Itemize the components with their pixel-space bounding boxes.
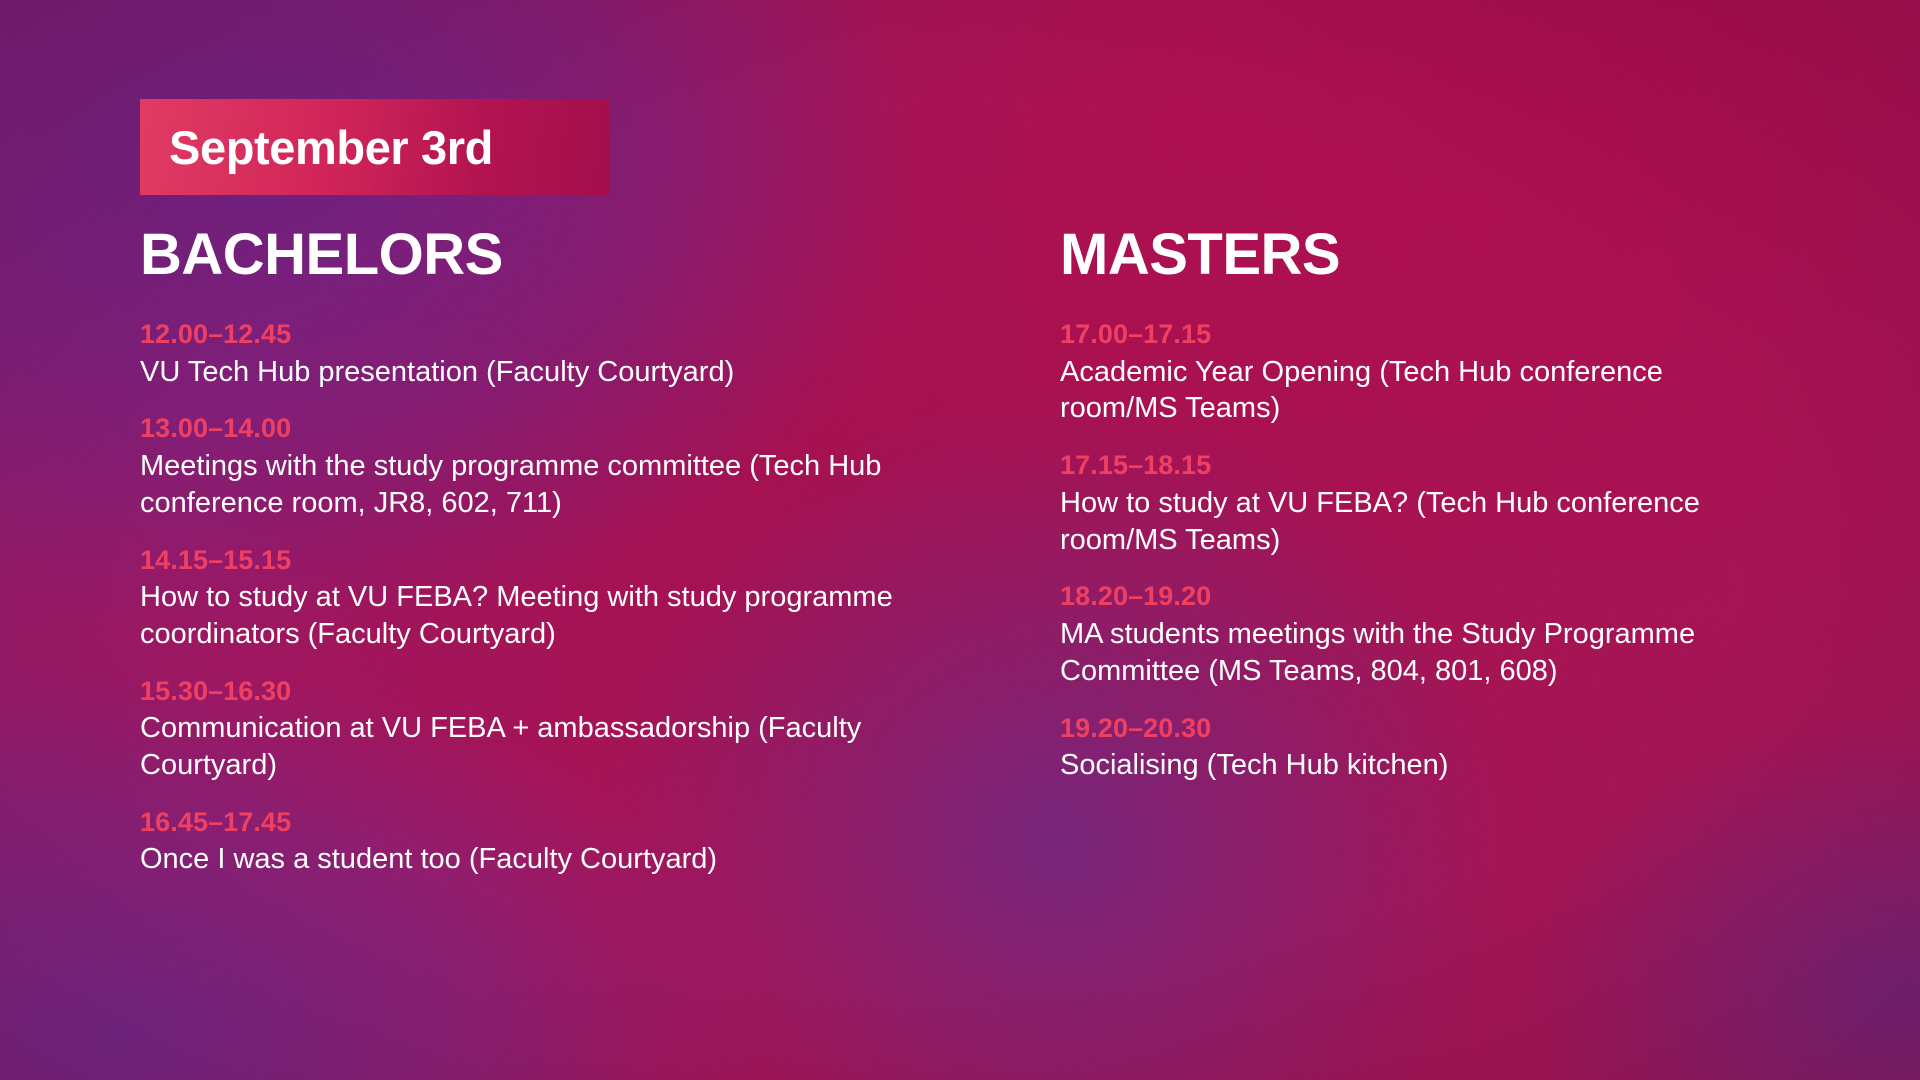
- column-heading-masters: MASTERS: [1060, 225, 1840, 284]
- schedule-entry: 19.20–20.30 Socialising (Tech Hub kitche…: [1060, 712, 1840, 784]
- entry-time: 19.20–20.30: [1060, 712, 1840, 745]
- schedule-entry: 16.45–17.45 Once I was a student too (Fa…: [140, 806, 940, 878]
- date-badge-label: September 3rd: [140, 124, 493, 171]
- entry-time: 16.45–17.45: [140, 806, 940, 839]
- schedule-entry: 18.20–19.20 MA students meetings with th…: [1060, 580, 1840, 689]
- column-bachelors: BACHELORS 12.00–12.45 VU Tech Hub presen…: [0, 225, 940, 878]
- schedule-columns: BACHELORS 12.00–12.45 VU Tech Hub presen…: [0, 225, 1920, 878]
- slide-content: September 3rd BACHELORS 12.00–12.45 VU T…: [0, 0, 1920, 1080]
- schedule-entry: 17.00–17.15 Academic Year Opening (Tech …: [1060, 318, 1840, 427]
- entry-description: Once I was a student too (Faculty Courty…: [140, 841, 940, 878]
- entry-description: How to study at VU FEBA? Meeting with st…: [140, 579, 940, 653]
- entry-time: 14.15–15.15: [140, 544, 940, 577]
- schedule-entry: 17.15–18.15 How to study at VU FEBA? (Te…: [1060, 449, 1840, 558]
- entry-description: Socialising (Tech Hub kitchen): [1060, 747, 1760, 784]
- entry-description: Meetings with the study programme commit…: [140, 448, 940, 522]
- entry-time: 12.00–12.45: [140, 318, 940, 351]
- entry-time: 17.15–18.15: [1060, 449, 1840, 482]
- entry-time: 15.30–16.30: [140, 675, 940, 708]
- entry-time: 18.20–19.20: [1060, 580, 1840, 613]
- column-masters: MASTERS 17.00–17.15 Academic Year Openin…: [940, 225, 1840, 878]
- schedule-entry: 12.00–12.45 VU Tech Hub presentation (Fa…: [140, 318, 940, 390]
- entry-description: How to study at VU FEBA? (Tech Hub confe…: [1060, 485, 1760, 559]
- entry-time: 17.00–17.15: [1060, 318, 1840, 351]
- date-badge: September 3rd: [140, 99, 610, 195]
- entry-description: Communication at VU FEBA + ambassadorshi…: [140, 710, 940, 784]
- column-heading-bachelors: BACHELORS: [140, 225, 940, 284]
- schedule-entry: 14.15–15.15 How to study at VU FEBA? Mee…: [140, 544, 940, 653]
- entry-description: MA students meetings with the Study Prog…: [1060, 616, 1760, 690]
- schedule-entry: 15.30–16.30 Communication at VU FEBA + a…: [140, 675, 940, 784]
- schedule-entry: 13.00–14.00 Meetings with the study prog…: [140, 412, 940, 521]
- entry-description: Academic Year Opening (Tech Hub conferen…: [1060, 354, 1760, 428]
- schedule-slide: September 3rd BACHELORS 12.00–12.45 VU T…: [0, 0, 1920, 1080]
- entry-time: 13.00–14.00: [140, 412, 940, 445]
- entry-description: VU Tech Hub presentation (Faculty Courty…: [140, 354, 940, 391]
